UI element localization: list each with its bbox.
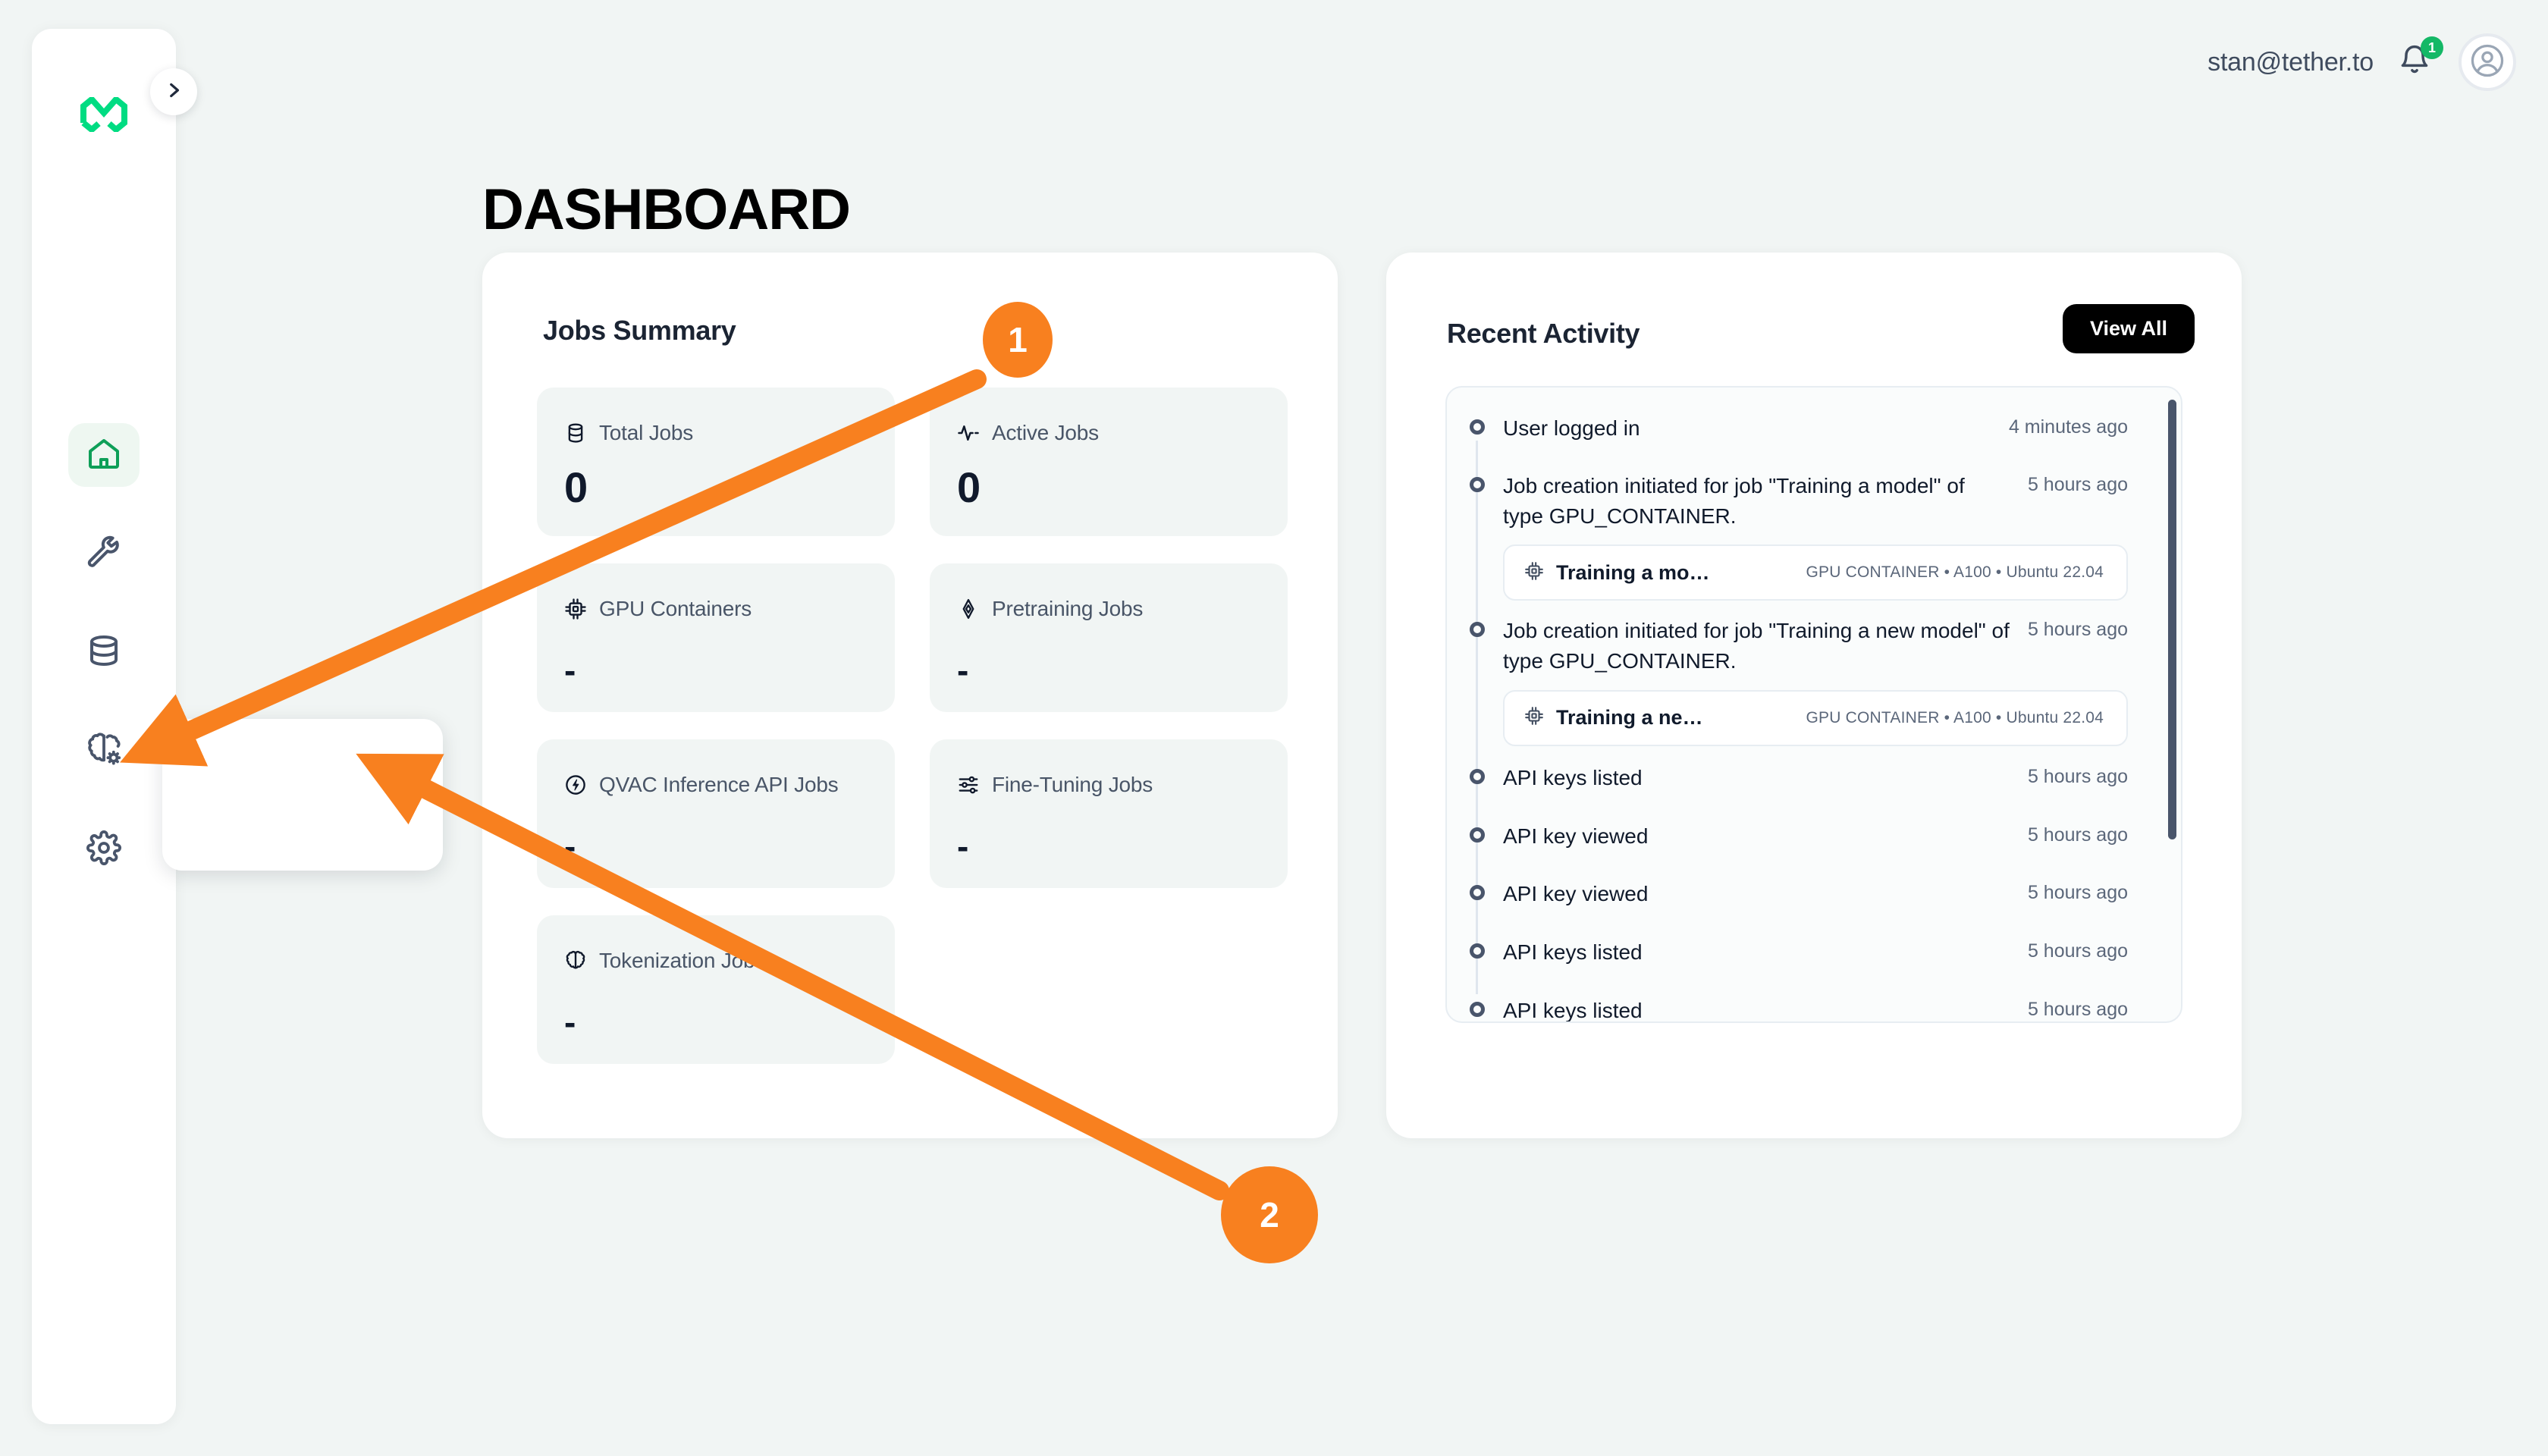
page-title: DASHBOARD [482,177,850,243]
sidebar-collapse-button[interactable] [150,68,197,115]
timeline-dot-icon [1470,477,1485,492]
activity-text: API keys listed [1503,763,1643,793]
sidebar-item-home[interactable] [68,423,140,487]
cpu-chip-icon [1524,706,1544,730]
stat-label: Pretraining Jobs [992,597,1143,621]
diamond-icon [957,598,980,620]
list-item[interactable]: Job creation initiated for job "Training… [1447,471,2181,601]
job-chip-name: Training a mo… [1556,561,1710,585]
jobs-summary-card: Jobs Summary Total Jobs 0 [482,253,1338,1138]
activity-pulse-icon [957,422,980,444]
stat-value: - [564,829,576,864]
api-flyout-menu [162,719,443,871]
cpu-chip-icon [564,598,587,620]
activity-time: 5 hours ago [2028,996,2128,1021]
infinity-logo[interactable] [79,97,129,132]
timeline-dot-icon [1470,1002,1485,1017]
activity-time: 4 minutes ago [2009,413,2128,438]
annotation-marker-2: 2 [1221,1166,1318,1263]
database-stack-icon [564,422,587,444]
sidebar-item-storage[interactable] [68,620,140,684]
stat-total-jobs[interactable]: Total Jobs 0 [537,388,895,536]
database-icon [86,632,122,673]
bell-icon [2398,67,2431,80]
stat-value: - [957,653,968,688]
stat-value: - [564,1005,576,1040]
list-item[interactable]: Job creation initiated for job "Training… [1447,616,2181,746]
sliders-icon [957,773,980,796]
stat-label: QVAC Inference API Jobs [599,773,839,797]
job-chip-meta: GPU CONTAINER • A100 • Ubuntu 22.04 [1806,563,2104,582]
stat-head: Pretraining Jobs [957,597,1143,621]
activity-time: 5 hours ago [2028,763,2128,788]
stat-pretraining-jobs[interactable]: Pretraining Jobs - [930,563,1288,712]
stat-label: Total Jobs [599,421,693,445]
activity-time: 5 hours ago [2028,471,2128,496]
stat-fine-tuning-jobs[interactable]: Fine-Tuning Jobs - [930,739,1288,888]
stat-active-jobs[interactable]: Active Jobs 0 [930,388,1288,536]
activity-scrollbar-thumb[interactable] [2168,400,2176,839]
activity-time: 5 hours ago [2028,821,2128,846]
sidebar-item-ai[interactable] [68,719,140,783]
stat-label: GPU Containers [599,597,752,621]
sidebar-item-settings[interactable] [68,817,140,881]
activity-text: Job creation initiated for job "Training… [1503,471,2010,532]
stat-head: Tokenization Jobs [564,949,765,973]
activity-text: User logged in [1503,413,1640,444]
stat-head: Fine-Tuning Jobs [957,773,1153,797]
timeline-dot-icon [1470,943,1485,959]
brain-gear-icon [86,731,122,771]
job-chip[interactable]: Training a mo… GPU CONTAINER • A100 • Ub… [1503,544,2128,601]
job-chip-meta: GPU CONTAINER • A100 • Ubuntu 22.04 [1806,709,2104,727]
timeline-dot-icon [1470,885,1485,900]
jobs-stats-grid: Total Jobs 0 Active Jobs 0 [537,388,1288,1064]
timeline-dot-icon [1470,419,1485,435]
list-item[interactable]: API key viewed 5 hours ago [1447,821,2181,852]
activity-time: 5 hours ago [2028,879,2128,904]
notification-badge: 1 [2421,36,2443,59]
activity-text: API key viewed [1503,821,1648,852]
stat-head: QVAC Inference API Jobs [564,773,839,797]
list-item[interactable]: API keys listed 5 hours ago [1447,937,2181,968]
activity-time: 5 hours ago [2028,616,2128,641]
timeline-dot-icon [1470,622,1485,637]
job-chip-left: Training a ne… [1524,706,1703,730]
recent-activity-title: Recent Activity [1447,318,1640,350]
job-chip-name: Training a ne… [1556,706,1703,730]
stat-value: 0 [564,466,588,509]
header-actions: stan@tether.to 1 [2208,33,2516,91]
stat-tokenization-jobs[interactable]: Tokenization Jobs - [537,915,895,1064]
stat-qvac-inference-api-jobs[interactable]: QVAC Inference API Jobs - [537,739,895,888]
activity-time: 5 hours ago [2028,937,2128,962]
sidebar-item-tools[interactable] [68,522,140,585]
activity-text: API keys listed [1503,996,1643,1023]
user-email-label: stan@tether.to [2208,48,2374,77]
stat-label: Fine-Tuning Jobs [992,773,1153,797]
activity-text: Job creation initiated for job "Training… [1503,616,2010,676]
home-icon [86,435,122,475]
brain-icon [564,949,587,972]
annotation-marker-1: 1 [983,302,1053,378]
stat-head: Active Jobs [957,421,1099,445]
activity-text: API key viewed [1503,879,1648,909]
recent-activity-card: Recent Activity View All User logged in … [1386,253,2242,1138]
stat-value: 0 [957,466,981,509]
avatar[interactable] [2459,33,2516,91]
view-all-button[interactable]: View All [2063,304,2195,353]
list-item[interactable]: User logged in 4 minutes ago [1447,413,2181,444]
zap-circle-icon [564,773,587,796]
activity-feed-panel: User logged in 4 minutes ago Job creatio… [1445,386,2182,1023]
timeline-dot-icon [1470,769,1485,784]
job-chip-left: Training a mo… [1524,561,1710,585]
user-avatar-icon [2470,43,2505,82]
list-item[interactable]: API keys listed 5 hours ago [1447,763,2181,793]
notifications-button[interactable]: 1 [2398,42,2434,82]
sidebar-nav [32,423,176,916]
stat-value: - [564,653,576,688]
stat-label: Active Jobs [992,421,1099,445]
gear-icon [86,830,121,869]
timeline-dot-icon [1470,827,1485,843]
job-chip[interactable]: Training a ne… GPU CONTAINER • A100 • Ub… [1503,690,2128,746]
stat-head: Total Jobs [564,421,693,445]
stat-head: GPU Containers [564,597,752,621]
activity-text: API keys listed [1503,937,1643,968]
jobs-summary-title: Jobs Summary [543,315,736,347]
list-item[interactable]: API key viewed 5 hours ago [1447,879,2181,909]
wrench-icon [86,534,122,574]
chevron-right-icon [164,80,184,104]
stat-gpu-containers[interactable]: GPU Containers - [537,563,895,712]
stat-value: - [957,829,968,864]
activity-feed-list: User logged in 4 minutes ago Job creatio… [1447,388,2181,1021]
list-item[interactable]: API keys listed 5 hours ago [1447,996,2181,1023]
stat-label: Tokenization Jobs [599,949,765,973]
sidebar [32,29,176,1424]
cpu-chip-icon [1524,561,1544,585]
